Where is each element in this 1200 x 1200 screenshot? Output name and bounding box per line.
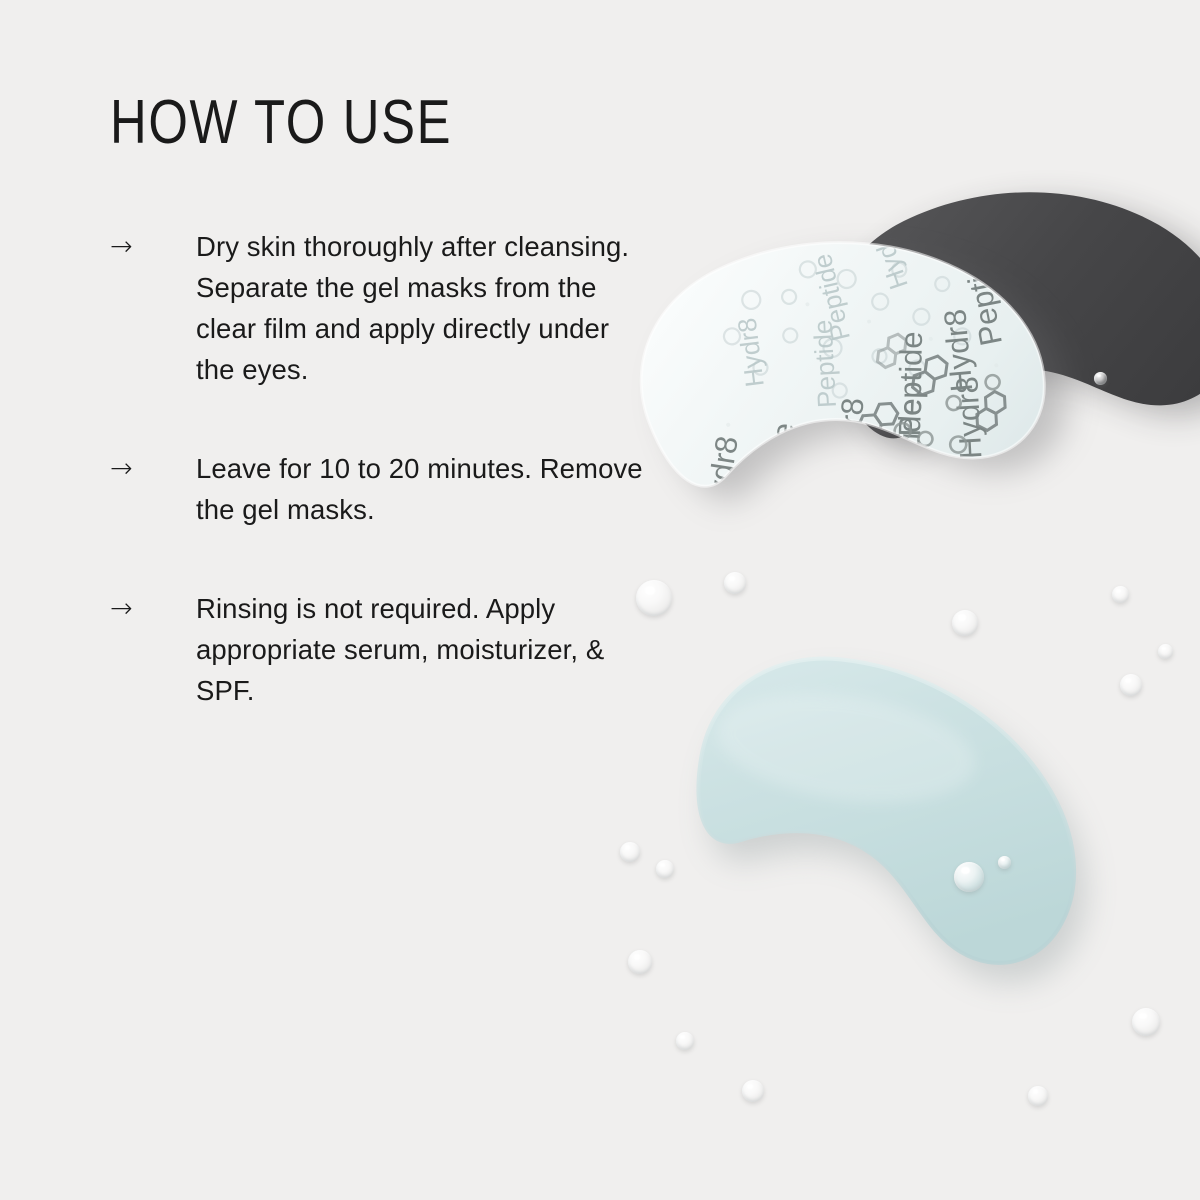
- svg-text:Hydr8: Hydr8: [949, 376, 988, 460]
- gel-mask-blue: [676, 642, 1114, 992]
- steps-list: → Dry skin thoroughly after cleansing. S…: [110, 226, 710, 711]
- list-item: → Dry skin thoroughly after cleansing. S…: [110, 226, 710, 390]
- svg-text:Hydr8: Hydr8: [829, 396, 871, 481]
- arrow-right-icon: →: [110, 226, 196, 267]
- list-item: → Rinsing is not required. Apply appropr…: [110, 588, 710, 711]
- infographic-canvas: HOW TO USE → Dry skin thoroughly after c…: [0, 0, 1200, 1200]
- arrow-right-icon: →: [110, 448, 196, 489]
- step-text: Rinsing is not required. Apply appropria…: [196, 588, 648, 711]
- svg-text:Peptide: Peptide: [888, 397, 928, 504]
- arrow-right-icon: →: [110, 588, 196, 629]
- svg-text:Peptide: Peptide: [807, 319, 842, 409]
- instructions-panel: HOW TO USE → Dry skin thoroughly after c…: [110, 92, 710, 711]
- page-title: HOW TO USE: [110, 92, 602, 154]
- step-text: Leave for 10 to 20 minutes. Remove the g…: [196, 448, 648, 530]
- list-item: → Leave for 10 to 20 minutes. Remove the…: [110, 448, 710, 530]
- svg-text:Hydr8: Hydr8: [820, 452, 865, 538]
- step-text: Dry skin thoroughly after cleansing. Sep…: [196, 226, 648, 390]
